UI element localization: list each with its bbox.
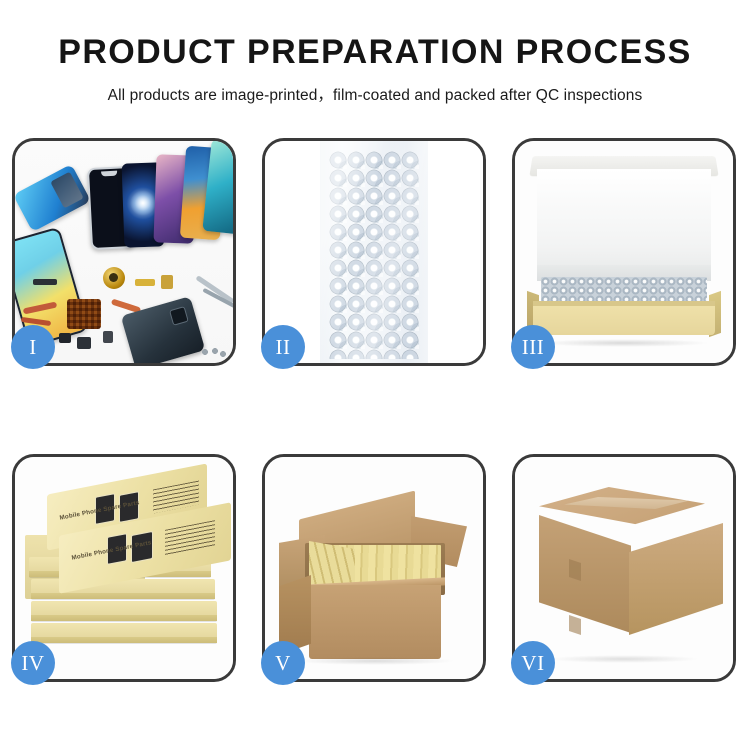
step-badge-6: VI: [511, 641, 555, 685]
step-badge-2: II: [261, 325, 305, 369]
box-shadow: [539, 339, 709, 347]
box-layer: [31, 601, 217, 621]
connector-small-icon: [161, 275, 173, 289]
box-stack: Mobile Phone Spare Parts Mobile Phone Sp…: [25, 473, 225, 665]
header: PRODUCT PREPARATION PROCESS All products…: [0, 0, 750, 105]
box-liner: [537, 169, 711, 281]
step-panel-4: Mobile Phone Spare Parts Mobile Phone Sp…: [12, 454, 236, 682]
connector-icon: [135, 279, 155, 286]
step-panel-3: III: [512, 138, 736, 366]
component-icon: [103, 331, 113, 343]
carton-shadow: [295, 657, 455, 665]
carton-seam: [569, 615, 581, 635]
step-panel-2: II: [262, 138, 486, 366]
carton-seam: [569, 559, 581, 581]
carton-front-panel: [309, 585, 441, 659]
product-preparation-infographic: PRODUCT PREPARATION PROCESS All products…: [0, 0, 750, 750]
steps-grid: I II: [12, 138, 738, 738]
carton-right-panel: [629, 523, 723, 635]
step-panel-6: VI: [512, 454, 736, 682]
component-icon: [77, 337, 91, 349]
speaker-coil-icon: [103, 267, 125, 289]
plastic-sheen: [320, 141, 428, 363]
page-title: PRODUCT PREPARATION PROCESS: [0, 34, 750, 71]
step-badge-5: V: [261, 641, 305, 685]
part-bar-icon: [33, 279, 57, 285]
step-badge-4: IV: [11, 641, 55, 685]
carton-shadow: [549, 655, 699, 663]
step-badge-3: III: [511, 325, 555, 369]
wrapped-contents: [541, 277, 707, 303]
phone-screen-icon: [15, 164, 91, 232]
box-layer: [31, 623, 217, 643]
step-badge-1: I: [11, 325, 55, 369]
screws-icon: [201, 347, 227, 357]
phone-screens-group: [15, 141, 233, 270]
carton-left-panel: [539, 515, 631, 633]
flex-cable-icon: [23, 301, 58, 314]
page-subtitle: All products are image-printed，film-coat…: [0, 83, 750, 105]
step-panel-5: V: [262, 454, 486, 682]
component-icon: [59, 333, 71, 343]
bubble-wrap-strip: [320, 141, 428, 363]
chip-grid-icon: [67, 299, 101, 329]
box-front-panel: [533, 301, 715, 335]
step-panel-1: I: [12, 138, 236, 366]
